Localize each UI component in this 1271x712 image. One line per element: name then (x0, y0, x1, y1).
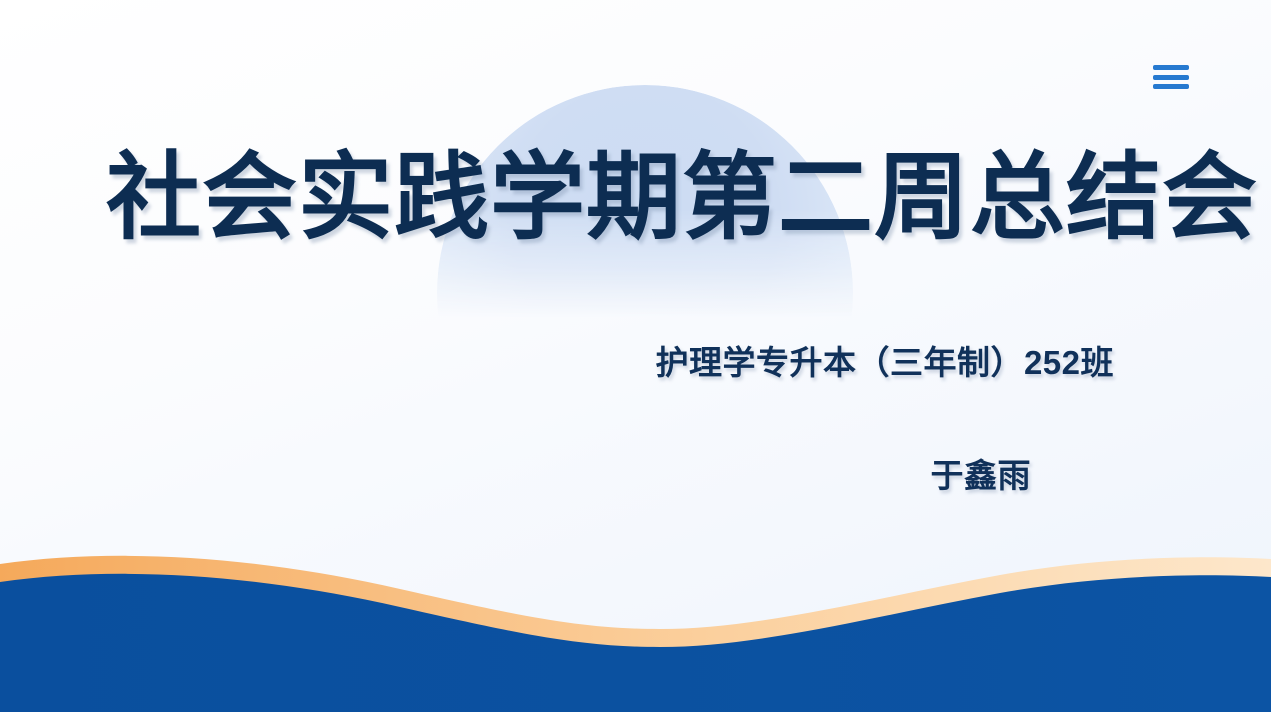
slide-subtitle: 护理学专升本（三年制）252班 (300, 336, 1114, 384)
hamburger-bar-bottom (1153, 84, 1189, 89)
presenter-name: 于鑫雨 (300, 449, 1031, 497)
wave-blue-fill (0, 574, 1271, 712)
wave-orange-band (0, 556, 1271, 655)
hamburger-bar-top (1153, 65, 1189, 70)
hamburger-bar-middle (1153, 75, 1189, 80)
hamburger-menu-icon[interactable] (1153, 63, 1189, 91)
slide-title: 社会实践学期第二周总结会 (106, 148, 1161, 249)
presentation-slide: 社会实践学期第二周总结会 护理学专升本（三年制）252班 于鑫雨 (0, 0, 1271, 712)
wave-decoration (0, 537, 1271, 712)
